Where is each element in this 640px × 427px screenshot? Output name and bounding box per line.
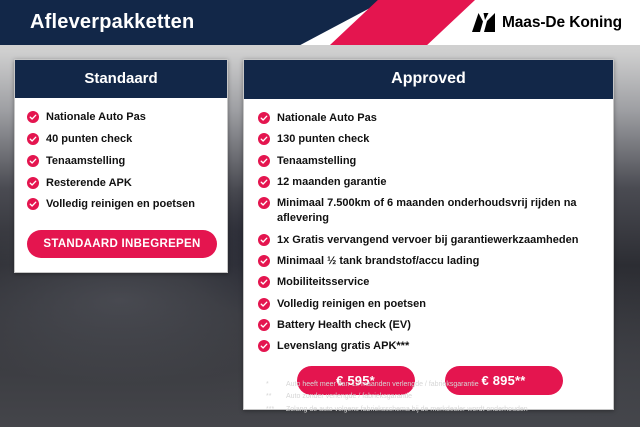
- footnote-marker: **: [266, 391, 286, 403]
- footnotes: * Auto heeft meer dan 12 maanden verleng…: [266, 379, 616, 416]
- feature-text: Minimaal 7.500km of 6 maanden onderhouds…: [277, 196, 601, 226]
- feature-text: 1x Gratis vervangend vervoer bij garanti…: [277, 233, 578, 248]
- check-circle-icon: [258, 255, 270, 267]
- standaard-inbegrepen-button[interactable]: STANDAARD INBEGREPEN: [27, 230, 217, 258]
- check-circle-icon: [27, 155, 39, 167]
- feature-text: Volledig reinigen en poetsen: [277, 297, 426, 312]
- feature-text: Tenaamstelling: [277, 154, 356, 169]
- feature-text: Tenaamstelling: [46, 154, 125, 169]
- check-circle-icon: [258, 112, 270, 124]
- package-card-standaard: Standaard Nationale Auto Pas 40 punten c…: [14, 59, 228, 273]
- page-title: Afleverpakketten: [30, 0, 194, 45]
- feature-text: Minimaal ½ tank brandstof/accu lading: [277, 254, 479, 269]
- package-card-approved: Approved Nationale Auto Pas 130 punten c…: [243, 59, 614, 410]
- list-item: Tenaamstelling: [258, 154, 601, 169]
- list-item: Volledig reinigen en poetsen: [27, 197, 217, 212]
- check-circle-icon: [27, 111, 39, 123]
- check-circle-icon: [258, 197, 270, 209]
- feature-text: Nationale Auto Pas: [46, 110, 146, 125]
- list-item: 1x Gratis vervangend vervoer bij garanti…: [258, 233, 601, 248]
- footnote-marker: *: [266, 379, 286, 391]
- feature-text: Volledig reinigen en poetsen: [46, 197, 195, 212]
- check-circle-icon: [258, 319, 270, 331]
- footnote-row: * Auto heeft meer dan 12 maanden verleng…: [266, 379, 616, 391]
- list-item: Levenslang gratis APK***: [258, 339, 601, 354]
- brand-name: Maas-De Koning: [502, 14, 622, 32]
- brand-logo: Maas-De Koning: [472, 0, 622, 45]
- card-title-standaard: Standaard: [15, 60, 227, 98]
- footnote-row: *** Zolang de auto volgens fabrieksschem…: [266, 404, 616, 416]
- page-header: Afleverpakketten Maas-De Koning: [0, 0, 640, 45]
- list-item: Battery Health check (EV): [258, 318, 601, 333]
- footnote-text: Auto zonder verlengde / fabrieksgarantie: [286, 391, 616, 403]
- feature-list-standaard: Nationale Auto Pas 40 punten check Tenaa…: [27, 110, 217, 212]
- feature-text: Mobiliteitsservice: [277, 275, 369, 290]
- feature-text: Resterende APK: [46, 176, 132, 191]
- check-circle-icon: [27, 198, 39, 210]
- feature-text: 40 punten check: [46, 132, 132, 147]
- feature-text: Nationale Auto Pas: [277, 111, 377, 126]
- list-item: Tenaamstelling: [27, 154, 217, 169]
- check-circle-icon: [258, 133, 270, 145]
- footnote-row: ** Auto zonder verlengde / fabrieksgaran…: [266, 391, 616, 403]
- feature-text: 12 maanden garantie: [277, 175, 386, 190]
- feature-list-approved: Nationale Auto Pas 130 punten check Tena…: [258, 111, 601, 354]
- feature-text: Levenslang gratis APK***: [277, 339, 409, 354]
- list-item: 130 punten check: [258, 132, 601, 147]
- maas-de-koning-m-logo-icon: [472, 13, 495, 32]
- list-item: Minimaal ½ tank brandstof/accu lading: [258, 254, 601, 269]
- feature-text: Battery Health check (EV): [277, 318, 411, 333]
- list-item: Resterende APK: [27, 176, 217, 191]
- card-body-approved: Nationale Auto Pas 130 punten check Tena…: [244, 99, 613, 409]
- list-item: Nationale Auto Pas: [27, 110, 217, 125]
- check-circle-icon: [27, 177, 39, 189]
- check-circle-icon: [258, 298, 270, 310]
- check-circle-icon: [258, 340, 270, 352]
- check-circle-icon: [258, 155, 270, 167]
- check-circle-icon: [27, 133, 39, 145]
- feature-text: 130 punten check: [277, 132, 369, 147]
- footnote-text: Auto heeft meer dan 12 maanden verlengde…: [286, 379, 616, 391]
- list-item: 40 punten check: [27, 132, 217, 147]
- list-item: Nationale Auto Pas: [258, 111, 601, 126]
- list-item: 12 maanden garantie: [258, 175, 601, 190]
- check-circle-icon: [258, 234, 270, 246]
- list-item: Minimaal 7.500km of 6 maanden onderhouds…: [258, 196, 601, 226]
- card-body-standaard: Nationale Auto Pas 40 punten check Tenaa…: [15, 98, 227, 272]
- list-item: Mobiliteitsservice: [258, 275, 601, 290]
- footnote-marker: ***: [266, 404, 286, 416]
- footnote-text: Zolang de auto volgens fabrieksschema bi…: [286, 404, 616, 416]
- check-circle-icon: [258, 176, 270, 188]
- card-title-approved: Approved: [244, 60, 613, 99]
- check-circle-icon: [258, 276, 270, 288]
- list-item: Volledig reinigen en poetsen: [258, 297, 601, 312]
